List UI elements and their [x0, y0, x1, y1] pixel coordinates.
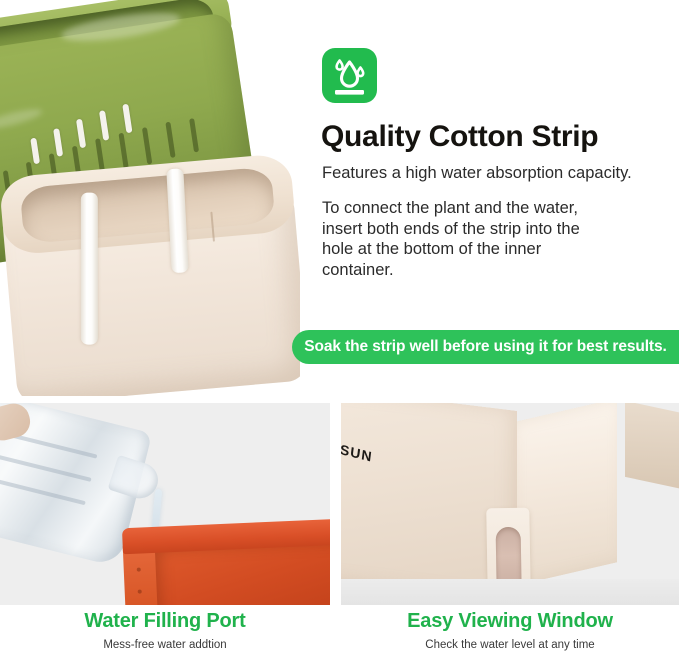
caption-subtitle: Check the water level at any time	[341, 638, 679, 652]
water-filling-photo	[0, 403, 330, 605]
feature-body-text: To connect the plant and the water, inse…	[322, 198, 584, 280]
cotton-strip	[81, 193, 98, 345]
tip-banner: Soak the strip well before using it for …	[292, 330, 679, 364]
caption-title: Water Filling Port	[0, 609, 330, 633]
feature-lead-text: Features a high water absorption capacit…	[322, 162, 672, 184]
brand-logo-text: IVOSUN	[341, 435, 373, 465]
cotton-strip-product-photo	[0, 0, 300, 396]
background-planter	[625, 403, 679, 489]
cream-inner-container	[0, 153, 300, 396]
caption-water-filling-port: Water Filling Port Mess-free water addti…	[0, 609, 330, 652]
caption-title: Easy Viewing Window	[341, 609, 679, 633]
tip-banner-text: Soak the strip well before using it for …	[304, 338, 666, 356]
caption-easy-viewing-window: Easy Viewing Window Check the water leve…	[341, 609, 679, 652]
surface-shadow	[341, 579, 679, 605]
feature-section: Quality Cotton Strip Features a high wat…	[0, 0, 679, 396]
water-drop-absorption-icon	[322, 48, 377, 103]
feature-title: Quality Cotton Strip	[321, 120, 677, 154]
pitcher-measure-line	[0, 451, 92, 481]
caption-subtitle: Mess-free water addtion	[0, 638, 330, 652]
viewing-window-photo: IVOSUN	[341, 403, 679, 605]
pitcher-measure-line	[0, 475, 86, 505]
bottom-features-section: IVOSUN Water Filling Port Mess-free wate…	[0, 396, 679, 656]
orange-planter	[122, 518, 330, 605]
viewing-window-scene: IVOSUN	[341, 403, 679, 605]
